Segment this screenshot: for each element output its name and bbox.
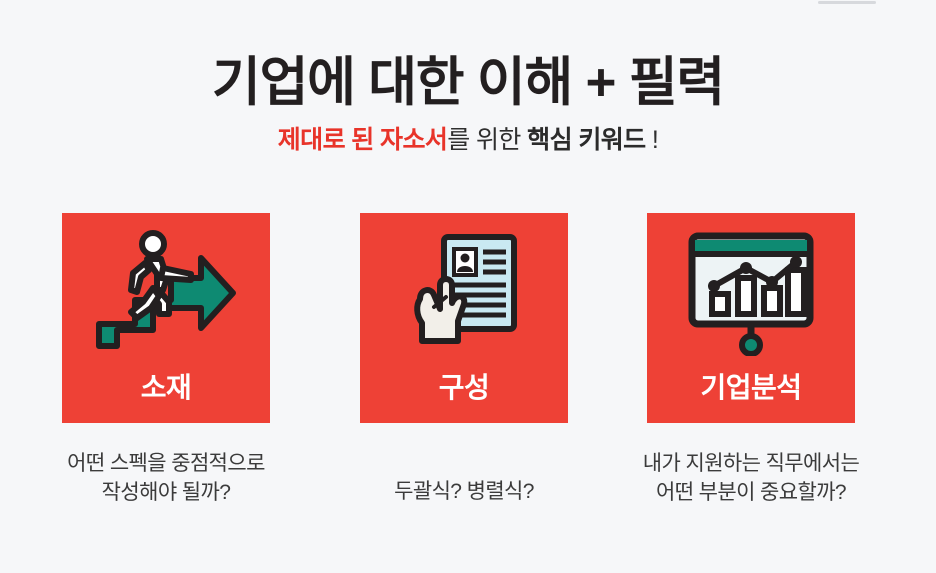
caption-company-analysis: 내가 지원하는 직무에서는 어떤 부분이 중요할까? — [601, 449, 901, 507]
caption-line: 두괄식? 병렬식? — [314, 477, 614, 506]
hand-holding-resume-icon — [360, 227, 568, 359]
card-label-company-analysis: 기업분석 — [647, 372, 855, 404]
page-subtitle: 제대로 된 자소서를 위한 핵심 키워드 ! — [0, 124, 936, 156]
page-title: 기업에 대한 이해 + 필력 — [0, 52, 936, 114]
caption-line: 어떤 스펙을 중점적으로 — [16, 449, 316, 478]
subtitle-end-text: ! — [646, 126, 659, 154]
subtitle-accent-text: 제대로 된 자소서 — [278, 126, 448, 154]
person-climbing-stairs-arrow-icon — [62, 227, 270, 359]
presentation-bar-chart-icon — [647, 227, 855, 359]
poster-canvas: 기업에 대한 이해 + 필력 제대로 된 자소서를 위한 핵심 키워드 ! 소재 — [0, 0, 936, 573]
card-structure[interactable]: 구성 — [360, 213, 568, 423]
card-label-structure: 구성 — [360, 372, 568, 404]
top-scrollbar-artifact — [818, 1, 876, 4]
caption-line: 내가 지원하는 직무에서는 — [601, 449, 901, 478]
card-topic[interactable]: 소재 — [62, 213, 270, 423]
subtitle-strong-text: 핵심 키워드 — [527, 126, 645, 154]
heading-block: 기업에 대한 이해 + 필력 제대로 된 자소서를 위한 핵심 키워드 ! — [0, 52, 936, 156]
subtitle-mid-text: 를 위한 — [447, 126, 527, 154]
card-company-analysis[interactable]: 기업분석 — [647, 213, 855, 423]
caption-line: 작성해야 될까? — [16, 478, 316, 507]
card-label-topic: 소재 — [62, 372, 270, 404]
caption-topic: 어떤 스펙을 중점적으로 작성해야 될까? — [16, 449, 316, 507]
caption-line: 어떤 부분이 중요할까? — [601, 478, 901, 507]
caption-structure: 두괄식? 병렬식? — [314, 477, 614, 506]
